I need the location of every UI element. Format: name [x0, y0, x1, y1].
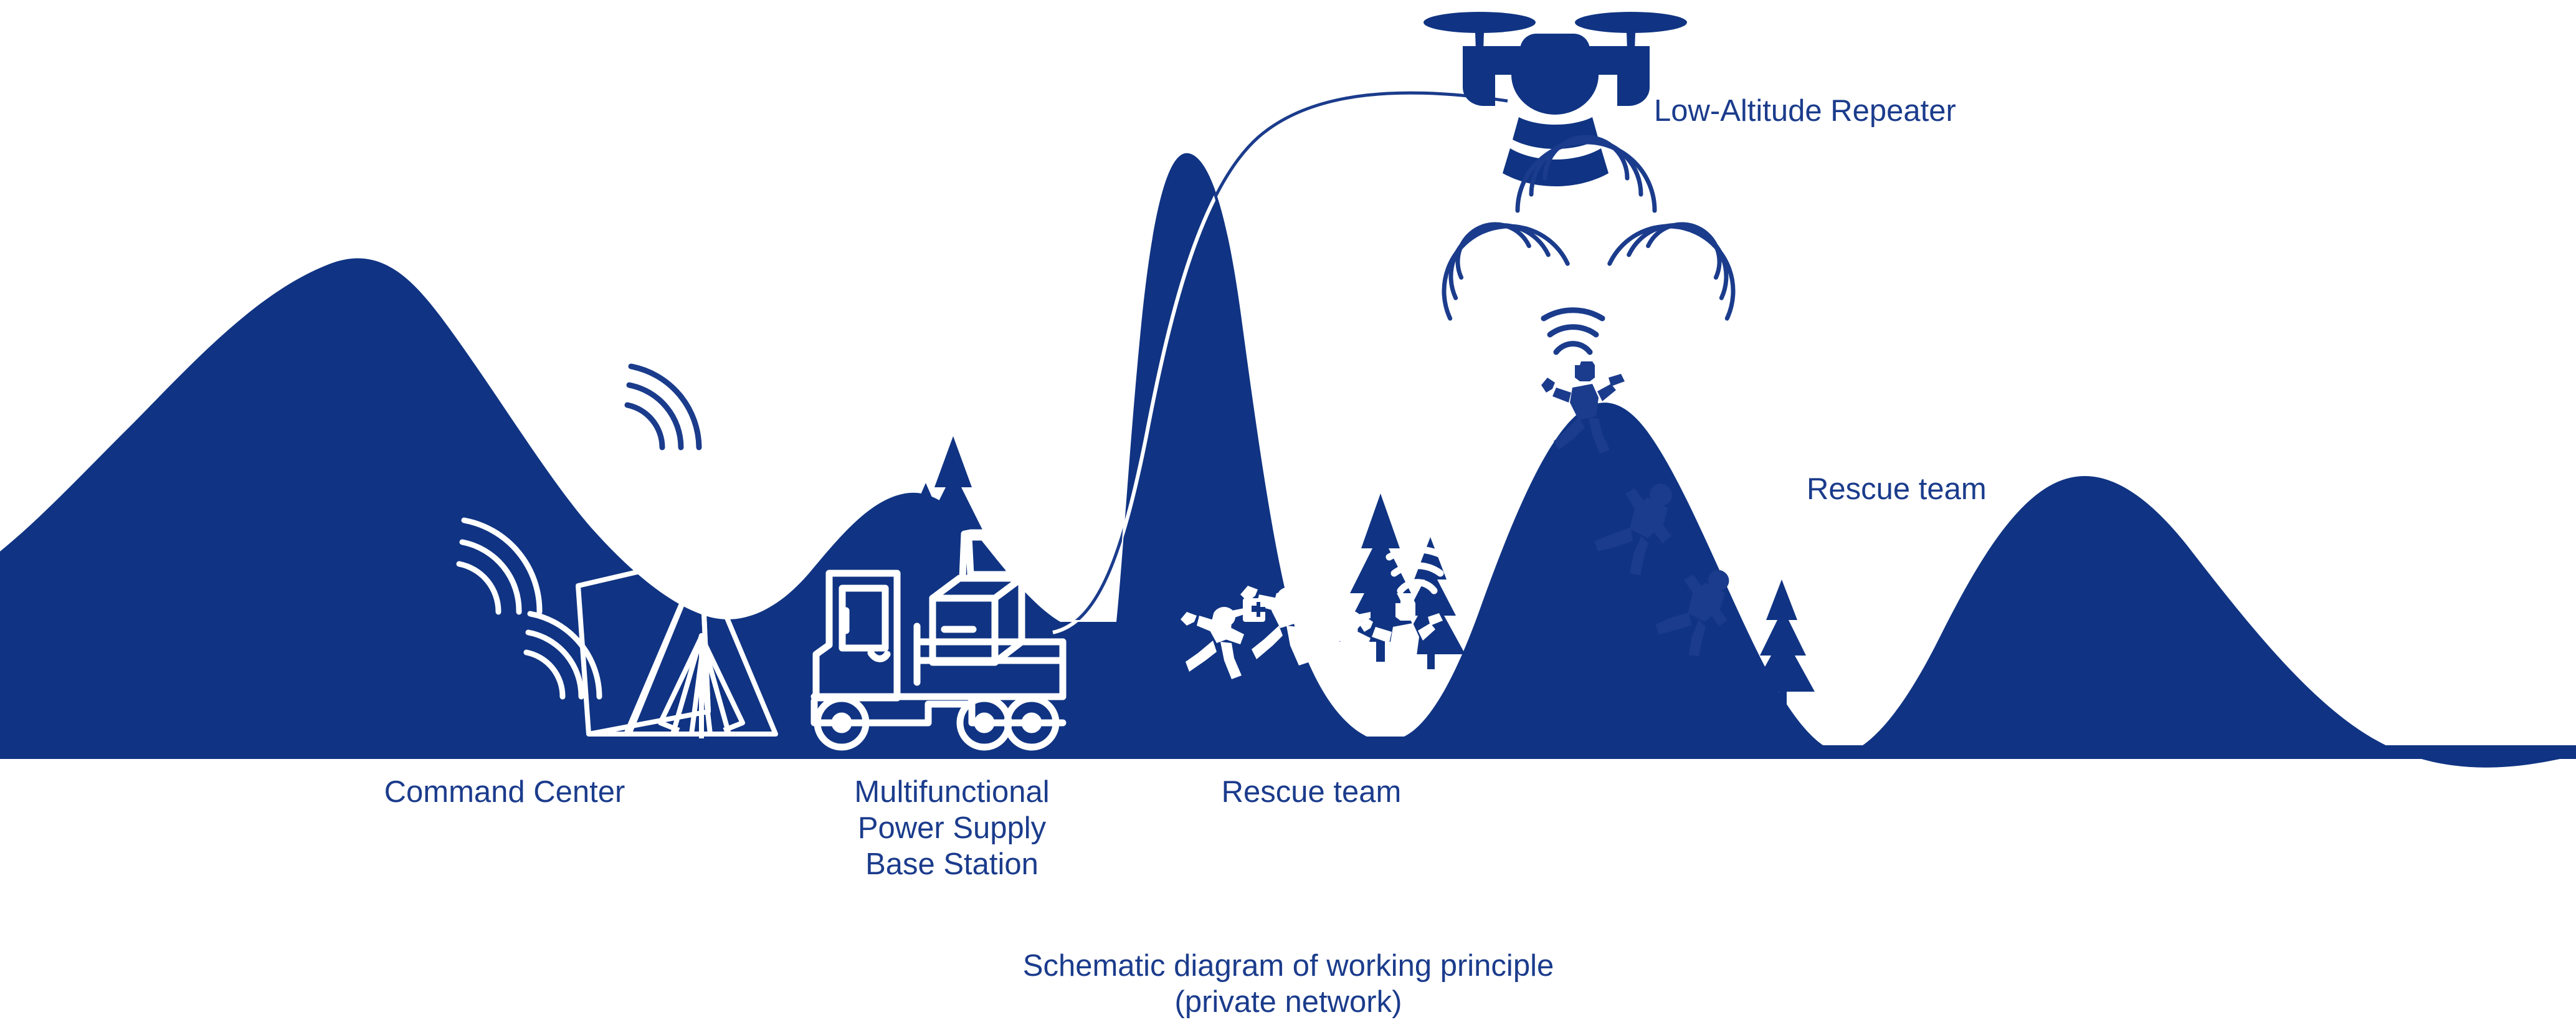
caption-line-2: (private network) [1023, 985, 1554, 1021]
schematic-illustration [0, 0, 2576, 1035]
label-base-station: MultifunctionalPower SupplyBase Station [854, 775, 1049, 882]
caption-line-1: Schematic diagram of working principle [1023, 948, 1554, 985]
label-base-station-line1: Multifunctional [854, 775, 1049, 809]
label-rescue-team-mountain: Rescue team [1807, 472, 1987, 508]
label-command-center: Command Center [384, 775, 625, 811]
diagram-caption: Schematic diagram of working principle(p… [1023, 948, 1554, 1021]
label-low-altitude-repeater: Low-Altitude Repeater [1654, 93, 1956, 130]
label-base-station-line2: Power Supply [858, 811, 1046, 845]
label-base-station-line3: Base Station [865, 847, 1038, 881]
label-rescue-team-ground: Rescue team [1222, 775, 1402, 811]
diagram-canvas: Command Center MultifunctionalPower Supp… [0, 0, 2576, 1035]
